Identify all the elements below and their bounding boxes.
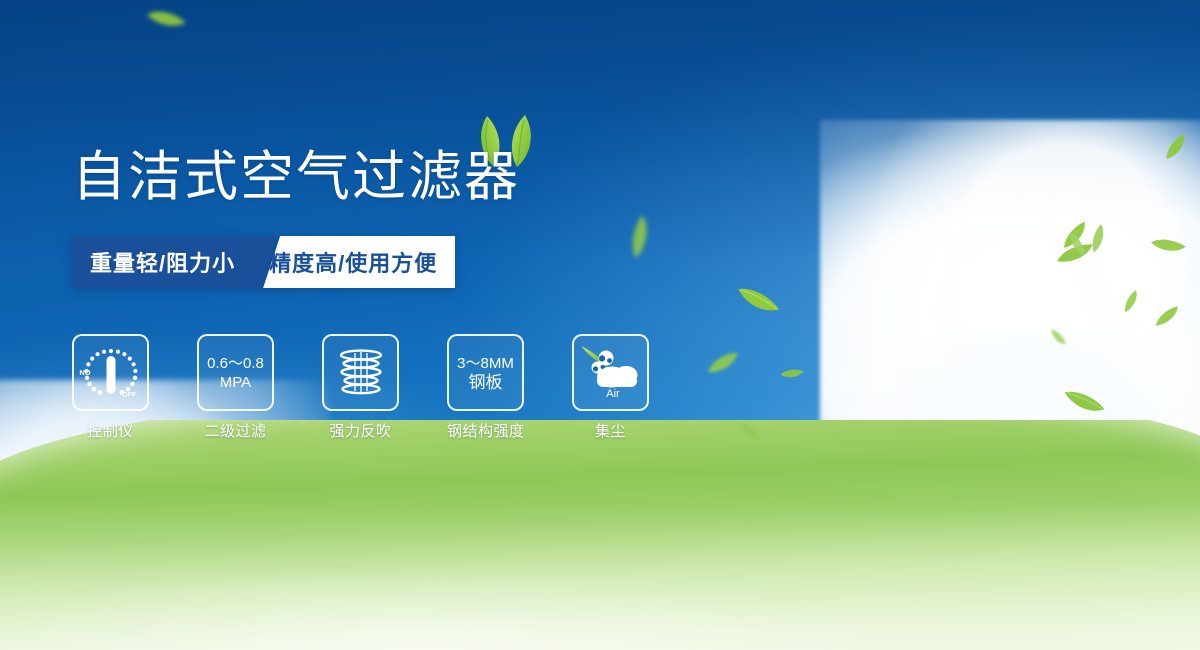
feature-label: 强力反吹 bbox=[322, 420, 399, 441]
feature-item[interactable]: 0.6～0.8 MPA 二级过滤 bbox=[197, 334, 274, 441]
feature-item[interactable]: 强力反吹 bbox=[322, 334, 399, 441]
subtitle-right-text: 精度高/使用方便 bbox=[263, 236, 455, 288]
page-title: 自洁式空气过滤器 bbox=[72, 146, 520, 208]
filter-coil-icon bbox=[322, 334, 399, 411]
steel-plate-text: 钢板 bbox=[469, 373, 503, 392]
pressure-unit-text: MPA bbox=[220, 373, 251, 392]
feature-list: NO OFF 控制仪 0.6～0.8 MPA 二级过滤 bbox=[72, 334, 649, 441]
feature-label: 二级过滤 bbox=[197, 420, 274, 441]
banner-content: 自洁式空气过滤器 重量轻/阻力小 精度高/使用方便 bbox=[0, 0, 1200, 650]
feature-label: 集尘 bbox=[572, 420, 649, 441]
feature-item[interactable]: 3～8MM 钢板 钢结构强度 bbox=[447, 334, 524, 441]
feature-item[interactable]: Air 集尘 bbox=[572, 334, 649, 441]
gauge-off-label: OFF bbox=[122, 392, 137, 399]
pressure-value-icon: 0.6～0.8 MPA bbox=[197, 334, 274, 411]
cloud-air-icon: Air bbox=[572, 334, 649, 411]
feature-label: 钢结构强度 bbox=[447, 420, 524, 441]
steel-thickness-text: 3～8MM bbox=[457, 354, 514, 373]
feature-label: 控制仪 bbox=[72, 420, 149, 441]
subtitle-bar: 重量轻/阻力小 精度高/使用方便 bbox=[72, 236, 455, 288]
gauge-dial-icon: NO OFF bbox=[72, 334, 149, 411]
pressure-range-text: 0.6～0.8 bbox=[207, 354, 264, 373]
product-banner: 自洁式空气过滤器 重量轻/阻力小 精度高/使用方便 bbox=[0, 0, 1200, 650]
air-label: Air bbox=[606, 388, 620, 400]
subtitle-left-text: 重量轻/阻力小 bbox=[72, 236, 251, 288]
steel-plate-icon: 3～8MM 钢板 bbox=[447, 334, 524, 411]
feature-item[interactable]: NO OFF 控制仪 bbox=[72, 334, 149, 441]
gauge-no-label: NO bbox=[79, 368, 90, 377]
